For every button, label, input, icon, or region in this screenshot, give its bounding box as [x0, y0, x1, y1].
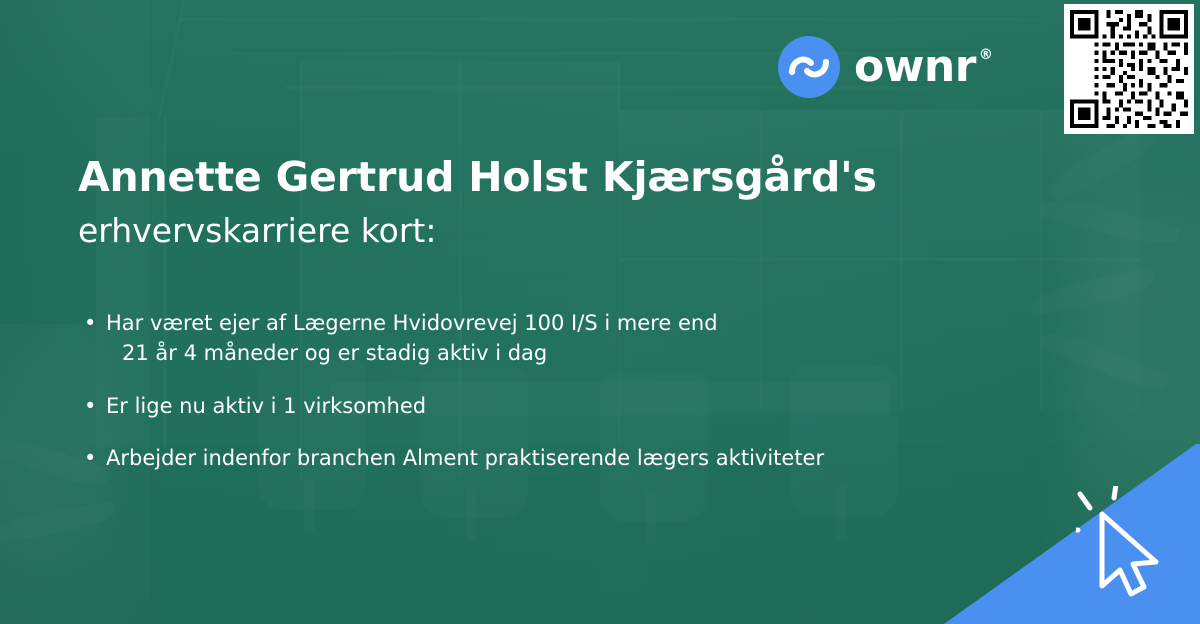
qr-code[interactable]: [1064, 4, 1194, 134]
page-title: Annette Gertrud Holst Kjærsgård's erhver…: [78, 152, 978, 253]
list-item: • Er lige nu aktiv i 1 virksomhed: [84, 391, 1064, 421]
ownr-logo[interactable]: ownr ®: [778, 36, 992, 98]
list-item-line-1: Arbejder indenfor branchen Alment prakti…: [106, 446, 824, 470]
bullet-marker: •: [84, 391, 106, 421]
list-item-text: Har været ejer af Lægerne Hvidovrevej 10…: [106, 308, 718, 369]
list-item-line-2: 21 år 4 måneder og er stadig aktiv i dag: [106, 338, 718, 368]
list-item-line-1: Er lige nu aktiv i 1 virksomhed: [106, 394, 426, 418]
list-item-line-1: Har været ejer af Lægerne Hvidovrevej 10…: [106, 311, 718, 335]
list-item: • Arbejder indenfor branchen Alment prak…: [84, 443, 1064, 473]
bullet-marker: •: [84, 308, 106, 369]
qr-code-icon: [1070, 10, 1188, 128]
headline-line-2: erhvervskarriere kort:: [78, 210, 978, 253]
corner-accent: [930, 444, 1200, 624]
headline-line-1: Annette Gertrud Holst Kjærsgård's: [78, 152, 978, 204]
bullet-marker: •: [84, 443, 106, 473]
brand-name: ownr: [854, 45, 976, 89]
list-item: • Har været ejer af Lægerne Hvidovrevej …: [84, 308, 1064, 369]
ownr-wordmark: ownr ®: [854, 45, 992, 89]
click-cursor-icon: [1076, 486, 1172, 602]
card-content: ownr ®: [0, 0, 1200, 624]
ownr-circular-arrows-logo-icon: [778, 36, 840, 98]
list-item-text: Er lige nu aktiv i 1 virksomhed: [106, 391, 426, 421]
registered-mark: ®: [979, 48, 993, 62]
list-item-text: Arbejder indenfor branchen Alment prakti…: [106, 443, 824, 473]
bullet-list: • Har været ejer af Lægerne Hvidovrevej …: [84, 308, 1064, 496]
